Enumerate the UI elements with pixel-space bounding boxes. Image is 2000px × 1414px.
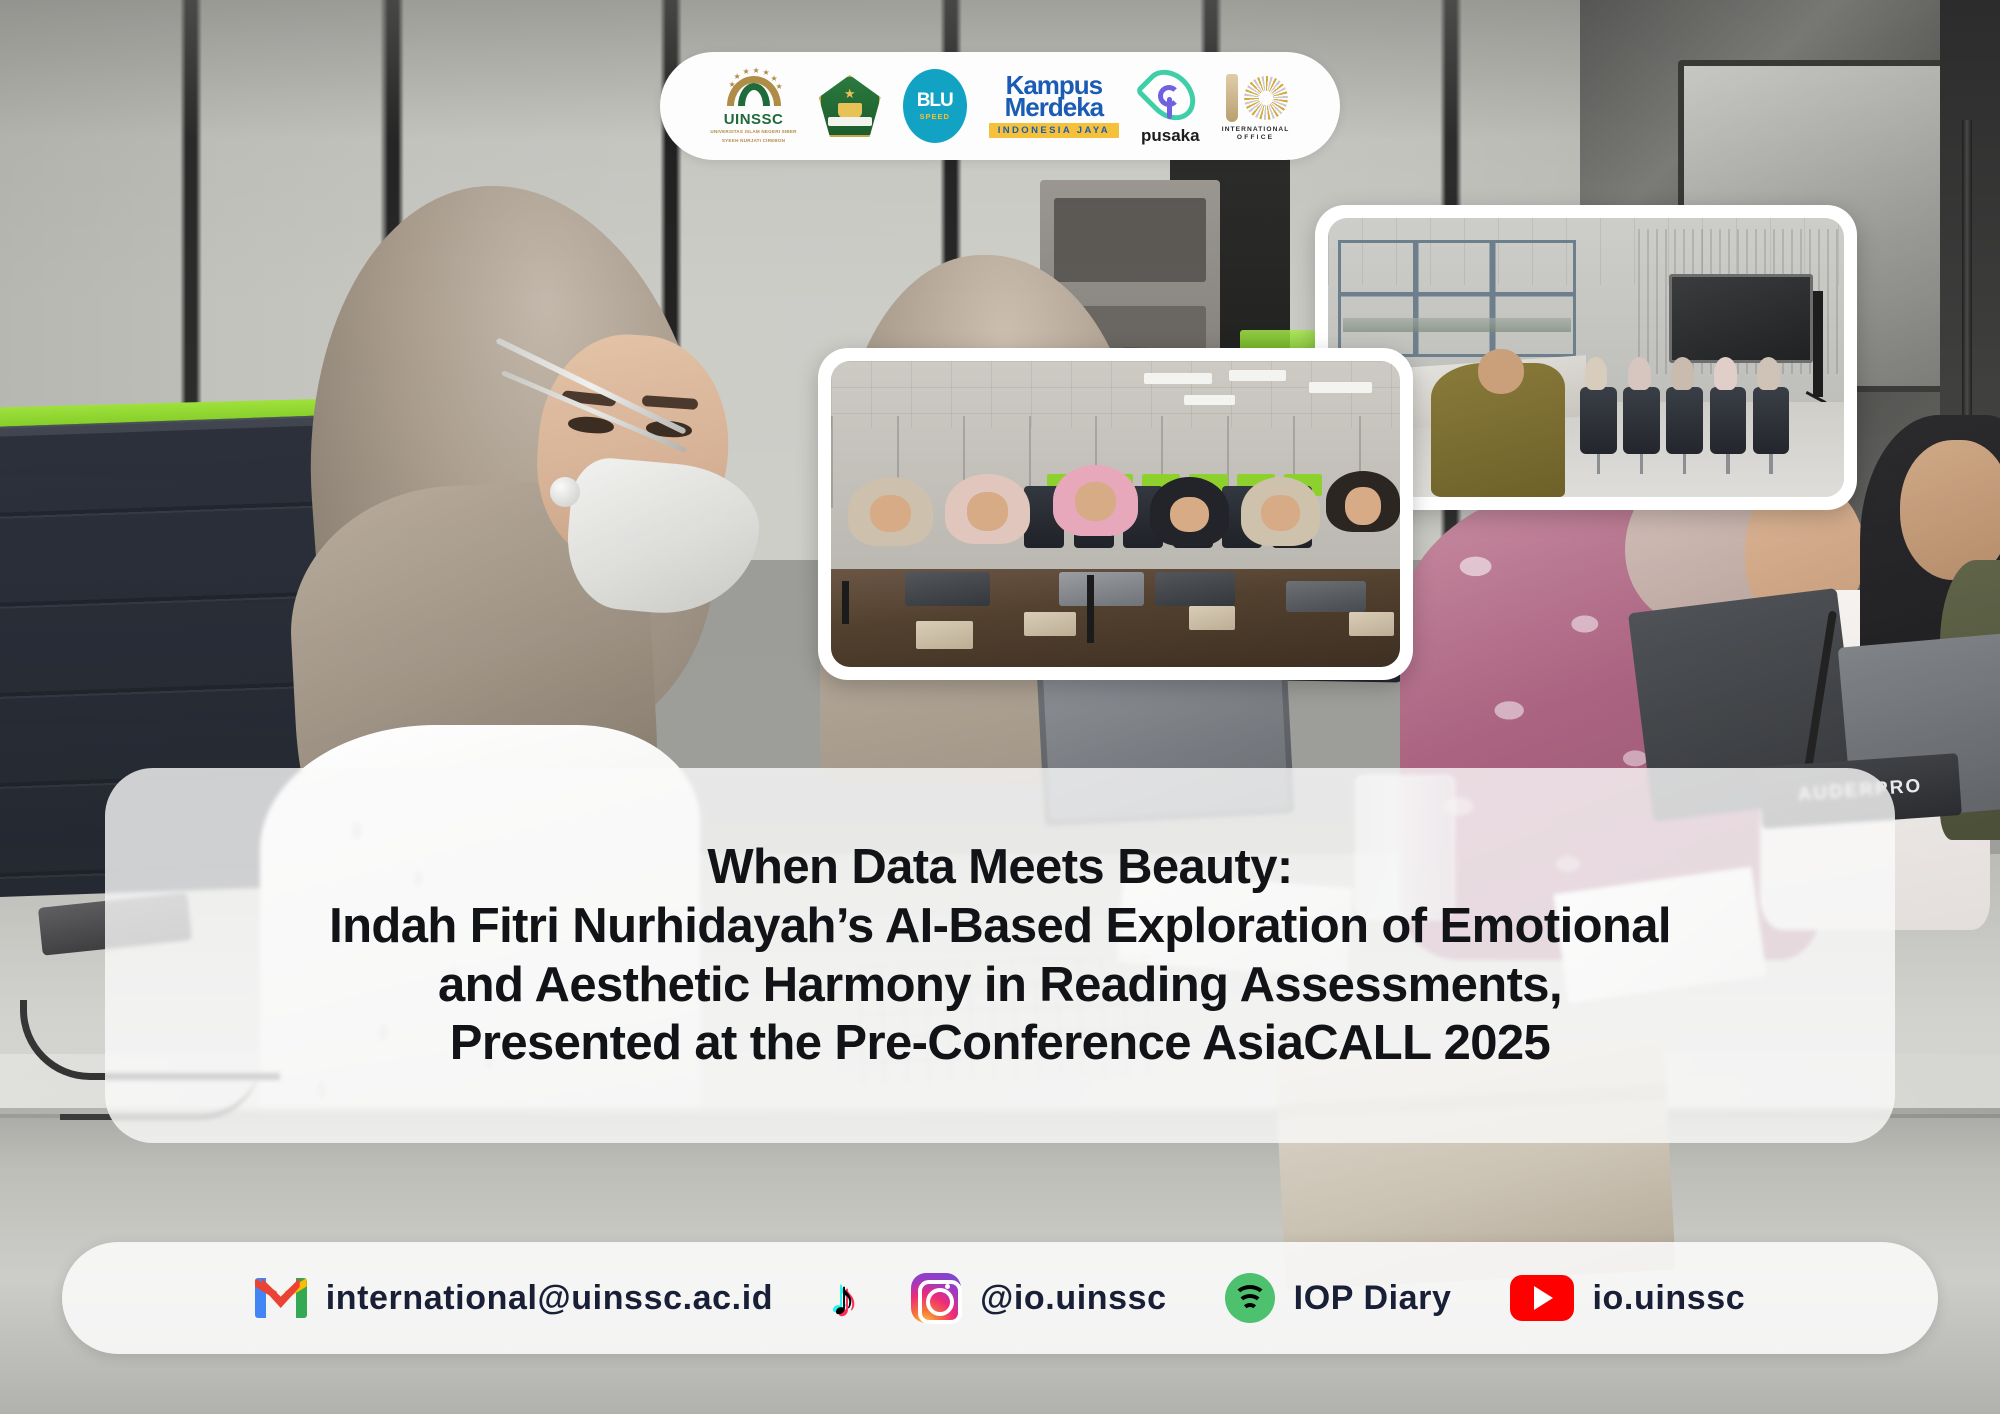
email-label: international@uinssc.ac.id: [326, 1279, 773, 1318]
kemenag-star-icon: ★: [844, 86, 856, 102]
gmail-icon: [255, 1278, 307, 1318]
spotify-label: IOP Diary: [1294, 1279, 1452, 1318]
youtube-contact[interactable]: io.uinssc: [1510, 1275, 1746, 1321]
instagram-contact[interactable]: @io.uinssc: [911, 1273, 1167, 1323]
instagram-icon: [911, 1273, 961, 1323]
title-line-1: When Data Meets Beauty:: [707, 838, 1292, 897]
pusaka-logo: pusaka: [1141, 67, 1200, 146]
pusaka-droplet-icon: [1148, 67, 1192, 123]
title-line-4: Presented at the Pre-Conference AsiaCALL…: [450, 1014, 1550, 1073]
sponsor-logo-bar: ★ ★ ★ ★ ★ ★ ★ UINSSC UNIVERSITAS ISLAM N…: [660, 52, 1340, 160]
pusaka-label: pusaka: [1141, 126, 1200, 146]
title-line-2: Indah Fitri Nurhidayah’s AI-Based Explor…: [329, 897, 1671, 956]
spotify-icon: [1225, 1273, 1275, 1323]
youtube-label: io.uinssc: [1593, 1279, 1746, 1318]
inset-photo-presenters: [818, 348, 1413, 680]
uinssc-label: UINSSC: [724, 112, 784, 127]
io-line-2: OFFICE: [1237, 134, 1274, 141]
uinssc-logo: ★ ★ ★ ★ ★ ★ ★ UINSSC UNIVERSITAS ISLAM N…: [710, 68, 796, 143]
blu-label: BLU: [917, 91, 953, 110]
tiktok-contact[interactable]: ♪♪♪: [831, 1272, 877, 1324]
kemenag-ribbon: [828, 117, 872, 126]
contact-footer-bar: international@uinssc.ac.id ♪♪♪ @io.uinss…: [62, 1242, 1938, 1354]
title-card: When Data Meets Beauty: Indah Fitri Nurh…: [105, 768, 1895, 1143]
blu-speed-label: SPEED: [920, 112, 950, 121]
blu-logo: BLU SPEED: [903, 69, 967, 143]
io-swirl-icon: [1222, 72, 1290, 126]
kemenag-logo: ★: [819, 75, 881, 137]
youtube-icon: [1510, 1275, 1574, 1321]
social-handle-label: @io.uinssc: [980, 1279, 1167, 1318]
inset-photo-presenters-image: [831, 361, 1400, 667]
kemenag-book-icon: [838, 103, 862, 118]
tiktok-icon: ♪♪♪: [831, 1272, 877, 1324]
spotify-contact[interactable]: IOP Diary: [1225, 1273, 1452, 1323]
io-line-1: INTERNATIONAL: [1222, 126, 1290, 133]
title-line-3: and Aesthetic Harmony in Reading Assessm…: [438, 956, 1562, 1015]
uinssc-sub1: UNIVERSITAS ISLAM NEGERI SIBER: [710, 129, 796, 135]
uinssc-sub2: SYEKH NURJATI CIREBON: [722, 138, 785, 144]
uinssc-mark-icon: ★ ★ ★ ★ ★ ★ ★: [725, 68, 783, 112]
email-contact[interactable]: international@uinssc.ac.id: [255, 1278, 773, 1318]
kampus-merdeka-logo: Kampus Merdeka INDONESIA JAYA: [989, 74, 1119, 137]
international-office-logo: INTERNATIONAL OFFICE: [1222, 72, 1290, 141]
kampus-line-2: Merdeka: [1005, 96, 1104, 119]
kampus-line-3: INDONESIA JAYA: [989, 123, 1119, 138]
